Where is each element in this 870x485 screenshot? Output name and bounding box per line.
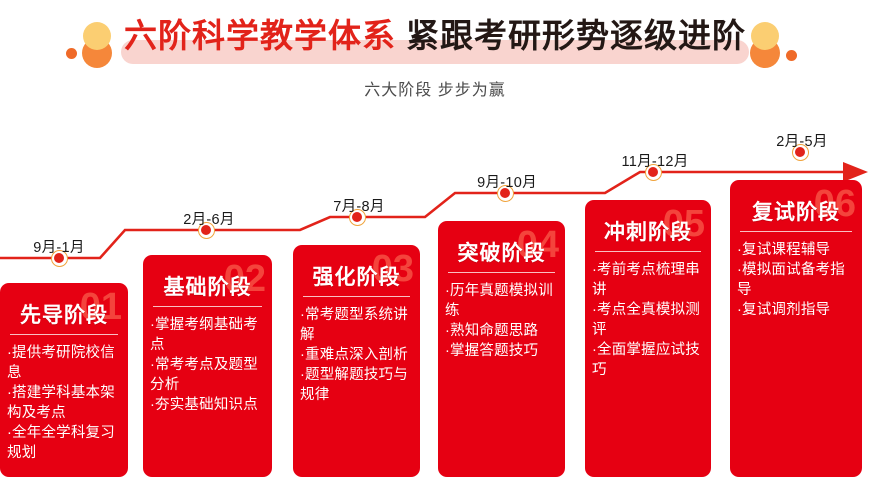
card-pointer-icon [49,283,79,284]
stage-title: 冲刺阶段 [585,216,711,246]
title-secondary: 紧跟考研形势逐级进阶 [406,17,746,54]
stage-items: ·提供考研院校信息 ·搭建学科基本架构及考点 ·全年全学科复习规划 [7,343,123,463]
stage-item: ·全年全学科复习规划 [7,423,123,463]
card-pointer-icon [633,200,663,201]
card-divider [595,251,701,252]
stage-item: ·考前考点梳理串讲 [592,260,707,300]
stage-items: ·历年真题模拟训练 ·熟知命题思路 ·掌握答题技巧 [445,281,561,361]
card-pointer-icon [487,221,517,222]
stage-title: 突破阶段 [438,237,565,267]
stage-item: ·历年真题模拟训练 [445,281,561,321]
stage-items: ·复试课程辅导 ·模拟面试备考指导 ·复试调剂指导 [737,240,858,320]
stage-item: ·熟知命题思路 [445,321,561,341]
stage-card-4[interactable]: 04 突破阶段 ·历年真题模拟训练 ·熟知命题思路 ·掌握答题技巧 [438,221,565,477]
page-subtitle: 六大阶段 步步为赢 [0,76,870,100]
stage-item: ·掌握答题技巧 [445,341,561,361]
stage-item: ·全面掌握应试技巧 [592,340,707,380]
card-divider [153,306,262,307]
stage-card-2[interactable]: 02 基础阶段 ·掌握考纲基础考点 ·常考考点及题型分析 ·夯实基础知识点 [143,255,272,477]
stage-title: 强化阶段 [293,261,420,291]
stage-item: ·重难点深入剖析 [300,345,416,365]
card-divider [448,272,555,273]
stage-card-5[interactable]: 05 冲刺阶段 ·考前考点梳理串讲 ·考点全真模拟测评 ·全面掌握应试技巧 [585,200,711,477]
stage-item: ·搭建学科基本架构及考点 [7,383,123,423]
stage-card-1[interactable]: 01 先导阶段 ·提供考研院校信息 ·搭建学科基本架构及考点 ·全年全学科复习规… [0,283,128,477]
stage-item: ·题型解题技巧与规律 [300,365,416,405]
stage-item: ·夯实基础知识点 [150,395,268,415]
card-divider [10,334,118,335]
stage-title: 基础阶段 [143,271,272,301]
period-label-3: 7月-8月 [333,195,384,216]
stage-item: ·复试课程辅导 [737,240,858,260]
card-pointer-icon [342,245,372,246]
card-divider [303,296,410,297]
stage-items: ·考前考点梳理串讲 ·考点全真模拟测评 ·全面掌握应试技巧 [592,260,707,380]
period-label-4: 9月-10月 [477,171,537,192]
stage-item: ·常考考点及题型分析 [150,355,268,395]
title-primary: 六阶科学教学体系 [124,17,396,54]
stage-item: ·复试调剂指导 [737,300,858,320]
card-divider [740,231,852,232]
stage-card-3[interactable]: 03 强化阶段 ·常考题型系统讲解 ·重难点深入剖析 ·题型解题技巧与规律 [293,245,420,477]
infographic-root: 六阶科学教学体系紧跟考研形势逐级进阶 六大阶段 步步为赢 [0,0,870,485]
stage-item: ·掌握考纲基础考点 [150,315,268,355]
period-label-1: 9月-1月 [33,236,84,257]
stage-item: ·考点全真模拟测评 [592,300,707,340]
stage-title: 复试阶段 [730,196,862,226]
period-label-6: 2月-5月 [776,130,827,151]
stage-items: ·掌握考纲基础考点 ·常考考点及题型分析 ·夯实基础知识点 [150,315,268,415]
stage-items: ·常考题型系统讲解 ·重难点深入剖析 ·题型解题技巧与规律 [300,305,416,405]
page-title: 六阶科学教学体系紧跟考研形势逐级进阶 [0,14,870,58]
header: 六阶科学教学体系紧跟考研形势逐级进阶 六大阶段 步步为赢 [0,0,870,105]
period-label-5: 11月-12月 [621,150,688,171]
stage-item: ·常考题型系统讲解 [300,305,416,345]
stage-item: ·提供考研院校信息 [7,343,123,383]
stage-title: 先导阶段 [0,299,128,329]
card-pointer-icon [781,180,811,181]
stage-card-6[interactable]: 06 复试阶段 ·复试课程辅导 ·模拟面试备考指导 ·复试调剂指导 [730,180,862,477]
period-label-2: 2月-6月 [183,208,234,229]
stage-item: ·模拟面试备考指导 [737,260,858,300]
card-pointer-icon [193,255,223,256]
